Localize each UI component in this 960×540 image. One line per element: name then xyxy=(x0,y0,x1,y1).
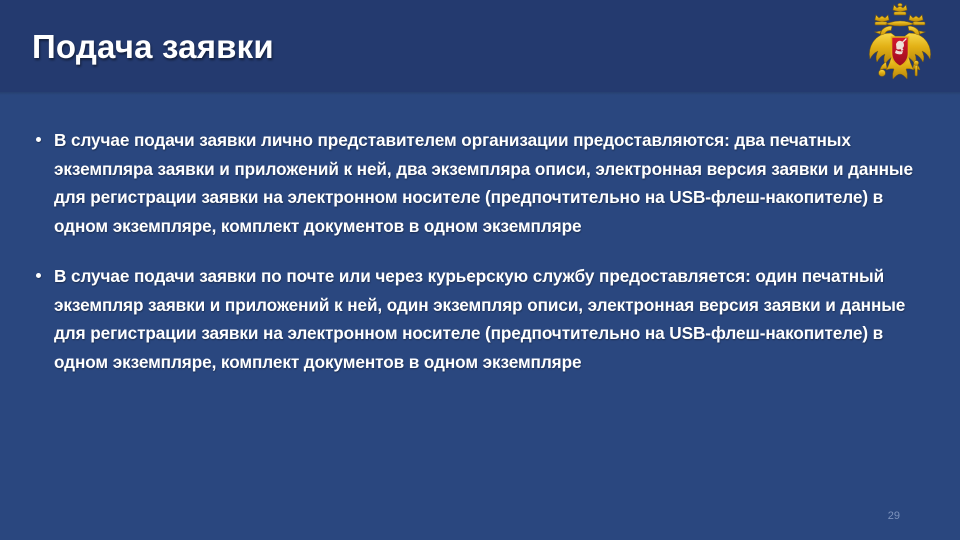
bullet-dot-icon xyxy=(36,137,41,142)
page-title: Подача заявки xyxy=(32,27,274,67)
list-item: В случае подачи заявки лично представите… xyxy=(28,126,928,240)
list-item-text: В случае подачи заявки по почте или чере… xyxy=(54,262,928,376)
bullet-dot-icon xyxy=(36,273,41,278)
presentation-slide: Подача заявки xyxy=(0,0,960,540)
list-item: В случае подачи заявки по почте или чере… xyxy=(28,262,928,376)
russian-federation-coat-of-arms-icon xyxy=(858,2,942,94)
list-item-text: В случае подачи заявки лично представите… xyxy=(54,126,928,240)
slide-body-content: В случае подачи заявки лично представите… xyxy=(28,126,928,376)
page-number: 29 xyxy=(888,509,900,523)
